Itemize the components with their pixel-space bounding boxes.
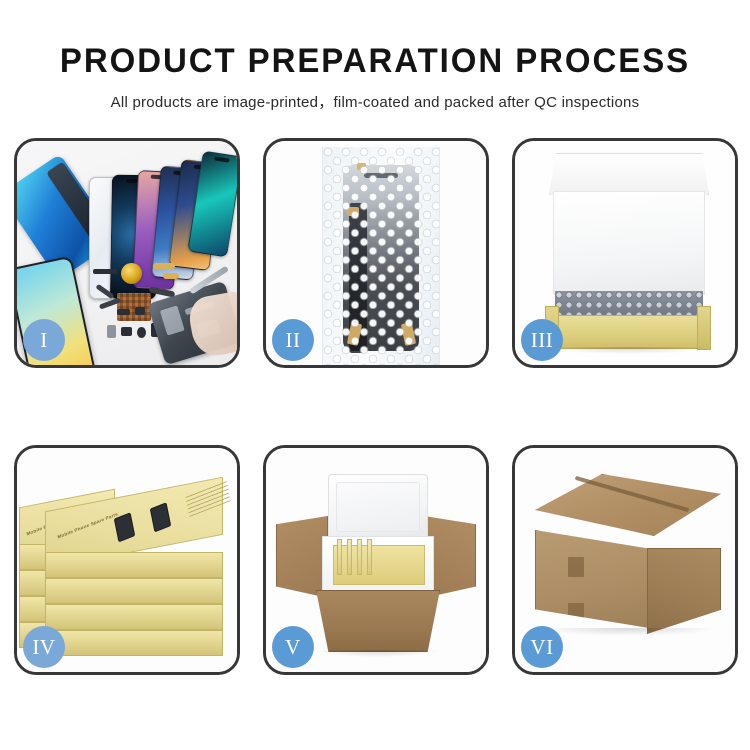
cover-detail: [160, 305, 185, 335]
styrofoam-lid: [328, 474, 428, 540]
box-label-text: Mobile Phone Spare Parts: [57, 512, 118, 540]
process-step-1[interactable]: I: [14, 138, 240, 368]
process-step-5[interactable]: V: [263, 445, 489, 675]
box-side-right: [697, 306, 711, 350]
drop-shadow: [545, 347, 711, 354]
box-slab: [45, 630, 223, 656]
small-part: [135, 307, 145, 315]
step-badge-2: II: [272, 319, 314, 361]
box-label-phone-image: [114, 512, 135, 542]
yellow-box-edge: [337, 539, 342, 575]
process-step-4[interactable]: Mobile Phone Spare Parts Mobile Phone Sp…: [14, 445, 240, 675]
process-step-2[interactable]: II: [263, 138, 489, 368]
drop-shadow: [318, 650, 438, 657]
carton-body: [316, 590, 440, 652]
page-title: PRODUCT PREPARATION PROCESS: [11, 44, 739, 78]
carton-flap-left: [276, 516, 328, 598]
process-step-grid: I II: [14, 138, 737, 678]
small-part: [137, 327, 146, 338]
bubble-texture: [323, 147, 439, 365]
chip-array-part: [117, 293, 151, 321]
carton-tape-patch: [568, 557, 584, 577]
small-part: [163, 273, 179, 279]
box-slab: [45, 604, 223, 630]
small-part: [153, 263, 175, 269]
yellow-box-edge: [347, 539, 352, 575]
styrofoam-box: [322, 536, 434, 594]
small-part: [117, 309, 130, 315]
box-slab: [45, 578, 223, 604]
drop-shadow: [541, 628, 717, 636]
small-part: [107, 325, 116, 338]
foam-sheet: [553, 191, 705, 295]
step-badge-3: III: [521, 319, 563, 361]
box-label-phone-image: [149, 502, 170, 532]
step-badge-6: VI: [521, 626, 563, 668]
step-badge-5: V: [272, 626, 314, 668]
step-badge-4: IV: [23, 626, 65, 668]
product-preparation-infographic: PRODUCT PREPARATION PROCESS All products…: [0, 0, 750, 750]
small-part: [93, 269, 117, 274]
yellow-box-edge: [367, 539, 372, 575]
yellow-box-edge: [357, 539, 362, 575]
box-stack-front: Mobile Phone Spare Parts: [45, 476, 223, 666]
notch: [214, 156, 230, 162]
yellow-inner-box: [545, 315, 711, 349]
speaker-coil-part: [121, 263, 142, 284]
box-slab: [45, 552, 223, 578]
process-step-3[interactable]: III: [512, 138, 738, 368]
header: PRODUCT PREPARATION PROCESS All products…: [0, 0, 750, 112]
small-part: [121, 327, 132, 336]
foam-lid-flap: [549, 153, 709, 195]
step-badge-1: I: [23, 319, 65, 361]
process-step-6[interactable]: VI: [512, 445, 738, 675]
bubble-wrap-bag: [322, 147, 440, 365]
page-subtitle: All products are image-printed，film-coat…: [0, 91, 750, 112]
